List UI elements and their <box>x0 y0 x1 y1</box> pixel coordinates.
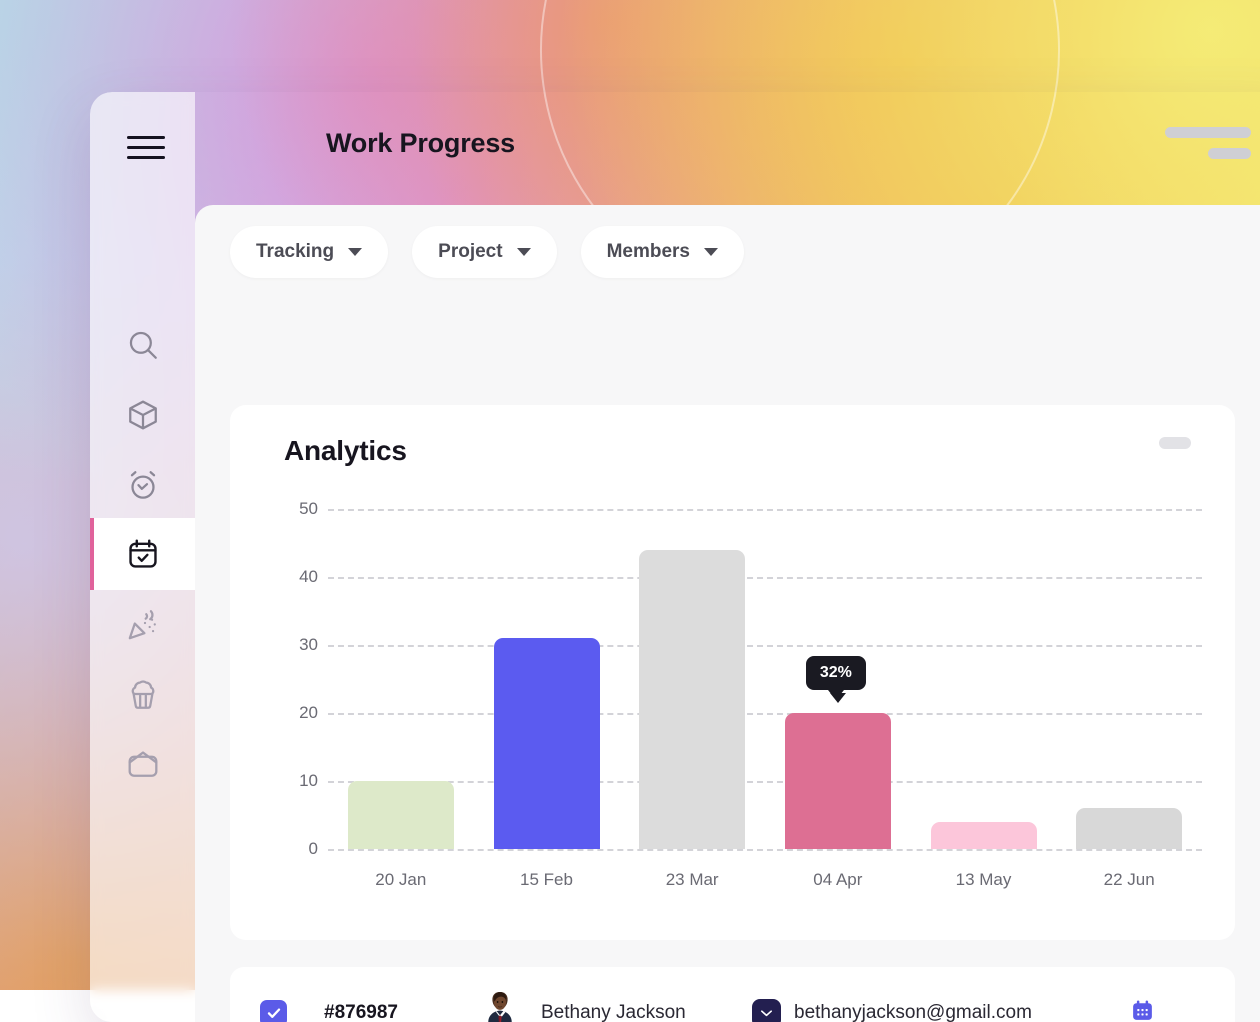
alarm-check-icon <box>126 468 160 502</box>
bar-15-feb[interactable] <box>494 638 600 849</box>
app-window: Work Progress <box>90 92 1260 1022</box>
envelope-icon <box>126 748 160 782</box>
filter-tracking[interactable]: Tracking <box>230 226 388 278</box>
calendar-check-icon <box>126 537 160 571</box>
chevron-down-icon <box>704 248 718 256</box>
filter-tracking-label: Tracking <box>256 241 334 263</box>
sidebar-item-schedule[interactable] <box>90 518 195 590</box>
row-avatar <box>478 987 522 1022</box>
analytics-card: Analytics 01020304050 20 Jan15 Feb23 Mar… <box>230 405 1235 940</box>
y-axis-tick-10: 10 <box>272 771 318 791</box>
sidebar-item-messages[interactable] <box>90 730 195 800</box>
header-placeholder-bar-secondary <box>1208 148 1251 159</box>
filter-project-label: Project <box>438 241 502 263</box>
y-axis-tick-20: 20 <box>272 703 318 723</box>
analytics-bar-chart: 01020304050 20 Jan15 Feb23 Mar04 Apr13 M… <box>230 405 1235 940</box>
bar-column-0 <box>348 509 454 849</box>
bar-13-may[interactable] <box>931 822 1037 849</box>
cupcake-icon <box>126 678 160 712</box>
bar-column-2 <box>639 509 745 849</box>
x-axis-tick-3: 04 Apr <box>768 870 908 890</box>
sidebar-item-search[interactable] <box>90 310 195 380</box>
bar-column-1 <box>494 509 600 849</box>
envelope-icon[interactable] <box>752 999 781 1022</box>
y-axis-tick-0: 0 <box>272 839 318 859</box>
x-axis-tick-4: 13 May <box>914 870 1054 890</box>
bar-04-apr[interactable] <box>785 713 891 849</box>
bar-22-jun[interactable] <box>1076 808 1182 849</box>
x-axis-tick-5: 22 Jun <box>1059 870 1199 890</box>
filter-members[interactable]: Members <box>581 226 744 278</box>
filter-members-label: Members <box>607 241 690 263</box>
sidebar-item-rewards[interactable] <box>90 660 195 730</box>
sidebar-item-celebrations[interactable] <box>90 590 195 660</box>
row-id: #876987 <box>324 1002 398 1022</box>
content-panel: Tracking Project Members Analytics 01020… <box>195 205 1260 1022</box>
search-icon <box>126 328 160 362</box>
party-popper-icon <box>126 608 160 642</box>
grid-line-0 <box>328 849 1202 851</box>
x-axis-tick-1: 15 Feb <box>477 870 617 890</box>
page-title: Work Progress <box>326 128 515 159</box>
y-axis-tick-50: 50 <box>272 499 318 519</box>
sidebar-item-reminders[interactable] <box>90 450 195 520</box>
filter-project[interactable]: Project <box>412 226 556 278</box>
bar-tooltip: 32% <box>806 656 866 690</box>
header-placeholder-bar-primary <box>1165 127 1251 138</box>
bar-column-5 <box>1076 509 1182 849</box>
sidebar <box>90 92 195 1022</box>
app-header: Work Progress <box>195 92 1260 204</box>
calendar-icon[interactable] <box>1130 998 1155 1022</box>
filter-bar: Tracking Project Members <box>230 226 744 278</box>
x-axis-tick-0: 20 Jan <box>331 870 471 890</box>
bar-column-4 <box>931 509 1037 849</box>
box-icon <box>126 398 160 432</box>
chevron-down-icon <box>348 248 362 256</box>
table-row: #876987 Bethany Jackson <box>230 967 1235 1022</box>
bar-20-jan[interactable] <box>348 781 454 849</box>
sidebar-item-projects[interactable] <box>90 380 195 450</box>
plot-area <box>328 509 1202 849</box>
row-name: Bethany Jackson <box>541 1002 686 1022</box>
hamburger-menu-icon[interactable] <box>127 136 165 160</box>
y-axis-tick-40: 40 <box>272 567 318 587</box>
tooltip-pointer <box>830 693 846 703</box>
y-axis-tick-30: 30 <box>272 635 318 655</box>
bar-23-mar[interactable] <box>639 550 745 849</box>
row-checkbox[interactable] <box>260 1000 287 1022</box>
chevron-down-icon <box>517 248 531 256</box>
row-email: bethanyjackson@gmail.com <box>794 1002 1032 1022</box>
x-axis-tick-2: 23 Mar <box>622 870 762 890</box>
